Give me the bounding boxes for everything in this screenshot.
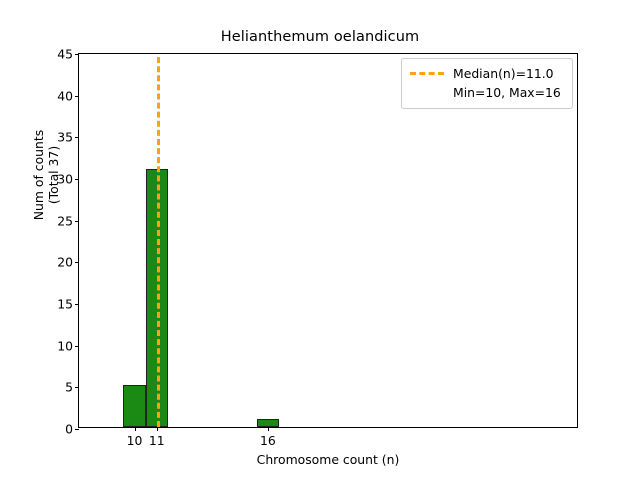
x-tick-mark — [157, 427, 158, 431]
legend: Median(n)=11.0 Min=10, Max=16 — [401, 58, 573, 109]
y-tick-mark — [75, 346, 79, 347]
legend-item-minmax: Min=10, Max=16 — [410, 83, 564, 102]
median-line — [157, 54, 160, 427]
y-tick-mark — [75, 179, 79, 180]
figure-canvas: Helianthemum oelandicum Num of counts (T… — [0, 0, 640, 480]
histogram-bar — [123, 385, 145, 427]
y-tick-label: 5 — [65, 380, 73, 395]
y-tick-label: 30 — [57, 172, 73, 187]
y-tick-mark — [75, 262, 79, 263]
x-tick-label: 16 — [260, 433, 276, 448]
y-tick-mark — [75, 429, 79, 430]
y-tick-mark — [75, 96, 79, 97]
y-tick-mark — [75, 221, 79, 222]
x-tick-label: 11 — [149, 433, 165, 448]
y-tick-mark — [75, 137, 79, 138]
y-tick-label: 45 — [57, 47, 73, 62]
x-tick-mark — [135, 427, 136, 431]
dashed-line-icon — [410, 72, 444, 75]
y-axis-label-line1: Num of counts — [31, 25, 46, 325]
y-tick-label: 0 — [65, 422, 73, 437]
histogram-bar — [257, 419, 279, 427]
legend-item-median: Median(n)=11.0 — [410, 64, 564, 83]
y-tick-label: 15 — [57, 297, 73, 312]
y-tick-mark — [75, 54, 79, 55]
y-tick-label: 10 — [57, 338, 73, 353]
legend-label-median: Median(n)=11.0 — [453, 66, 554, 81]
plot-area: 051015202530354045101116 — [78, 53, 578, 428]
x-tick-label: 10 — [127, 433, 143, 448]
y-tick-label: 35 — [57, 130, 73, 145]
x-axis-label: Chromosome count (n) — [78, 452, 578, 467]
plot-inner — [79, 54, 577, 427]
y-tick-label: 25 — [57, 213, 73, 228]
y-tick-mark — [75, 387, 79, 388]
y-tick-mark — [75, 304, 79, 305]
chart-title: Helianthemum oelandicum — [0, 29, 640, 45]
legend-label-minmax: Min=10, Max=16 — [453, 85, 561, 100]
x-tick-mark — [268, 427, 269, 431]
y-tick-label: 20 — [57, 255, 73, 270]
y-tick-label: 40 — [57, 88, 73, 103]
